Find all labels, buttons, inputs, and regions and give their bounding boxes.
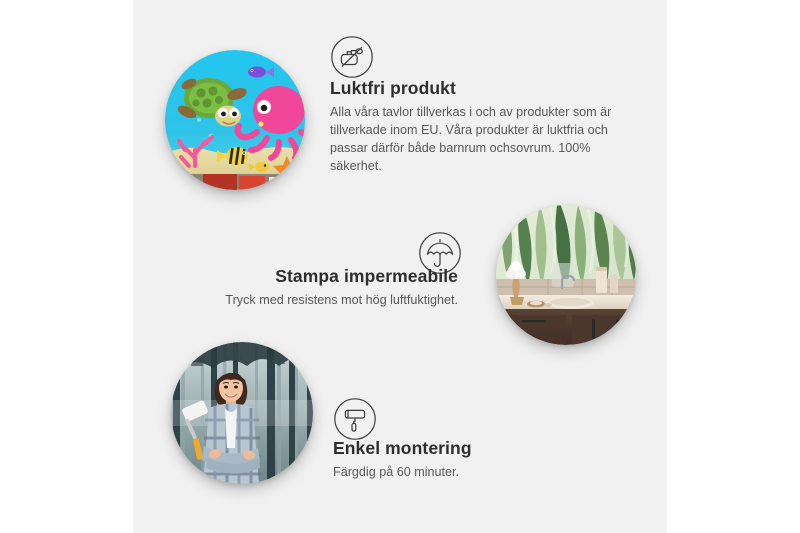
bathroom-tropical-wallpaper-art xyxy=(496,205,636,345)
feature-description-odourless: Alla våra tavlor tillverkas i och av pro… xyxy=(330,104,635,176)
content-panel: Luktfri produkt Alla våra tavlor tillver… xyxy=(133,0,667,533)
decorator-forest-mural-art xyxy=(171,342,313,484)
feature-description-waterproof: Tryck med resistens mot hög luftfuktighe… xyxy=(158,292,458,310)
feature-text-odourless: Luktfri produkt Alla våra tavlor tillver… xyxy=(330,78,635,175)
feature-description-easy-install: Färgdig på 60 minuter. xyxy=(333,464,633,482)
feature-image-easy-install xyxy=(171,342,313,484)
screenshot-root: Luktfri produkt Alla våra tavlor tillver… xyxy=(0,0,800,533)
feature-image-waterproof xyxy=(496,205,636,345)
feature-title-odourless: Luktfri produkt xyxy=(330,78,635,100)
underwater-cartoon-mural-art xyxy=(165,50,305,190)
feature-title-waterproof: Stampa impermeabile xyxy=(158,266,458,288)
paint-roller-icon xyxy=(333,397,377,441)
no-fragrance-icon xyxy=(330,35,374,79)
icon-no-fragrance xyxy=(330,35,374,79)
feature-image-odourless xyxy=(165,50,305,190)
icon-paint-roller xyxy=(333,397,377,441)
feature-text-waterproof: Stampa impermeabile Tryck med resistens … xyxy=(158,266,458,310)
feature-title-easy-install: Enkel montering xyxy=(333,438,633,460)
feature-text-easy-install: Enkel montering Färgdig på 60 minuter. xyxy=(333,438,633,482)
